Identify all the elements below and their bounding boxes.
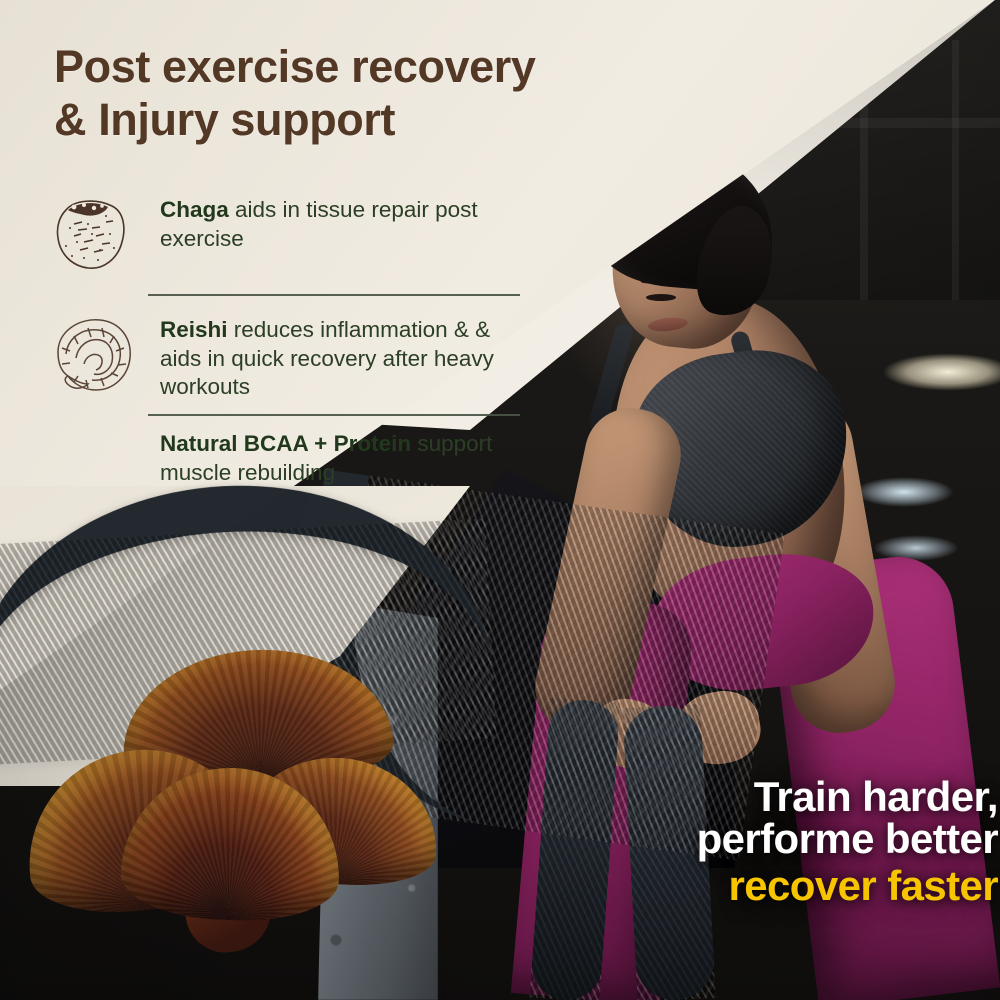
tagline-line-3: recover faster	[438, 865, 998, 907]
benefit-text-chaga: Chaga aids in tissue repair post exercis…	[160, 190, 534, 253]
headline-line-2: & Injury support	[54, 94, 395, 145]
benefit-item-reishi: Reishi reduces inflammation & & aids in …	[44, 310, 534, 402]
benefit-text-bcaa: Natural BCAA + Protein support muscle re…	[160, 430, 534, 487]
benefit-item-chaga: Chaga aids in tissue repair post exercis…	[44, 190, 534, 282]
reishi-mushroom-icon	[44, 310, 140, 402]
benefit-list: Chaga aids in tissue repair post exercis…	[44, 190, 534, 487]
headline-line-1: Post exercise recovery	[54, 41, 536, 92]
benefit-divider-1	[148, 294, 520, 296]
infographic-canvas: Post exercise recovery & Injury support	[0, 0, 1000, 1000]
benefit-term-reishi: Reishi	[160, 317, 228, 342]
content-layer: Post exercise recovery & Injury support	[0, 0, 1000, 1000]
tagline-line-2: performe better	[438, 818, 998, 860]
chaga-mushroom-icon	[44, 190, 140, 282]
benefit-text-reishi: Reishi reduces inflammation & & aids in …	[160, 310, 534, 402]
benefit-term-chaga: Chaga	[160, 197, 229, 222]
benefit-divider-2	[148, 414, 520, 416]
benefit-term-bcaa: Natural BCAA + Protein	[160, 431, 411, 456]
tagline-line-1: Train harder,	[438, 776, 998, 818]
benefit-item-bcaa: Natural BCAA + Protein support muscle re…	[44, 430, 534, 487]
tagline-block: Train harder, performe better recover fa…	[438, 776, 1000, 907]
page-title: Post exercise recovery & Injury support	[54, 40, 694, 146]
